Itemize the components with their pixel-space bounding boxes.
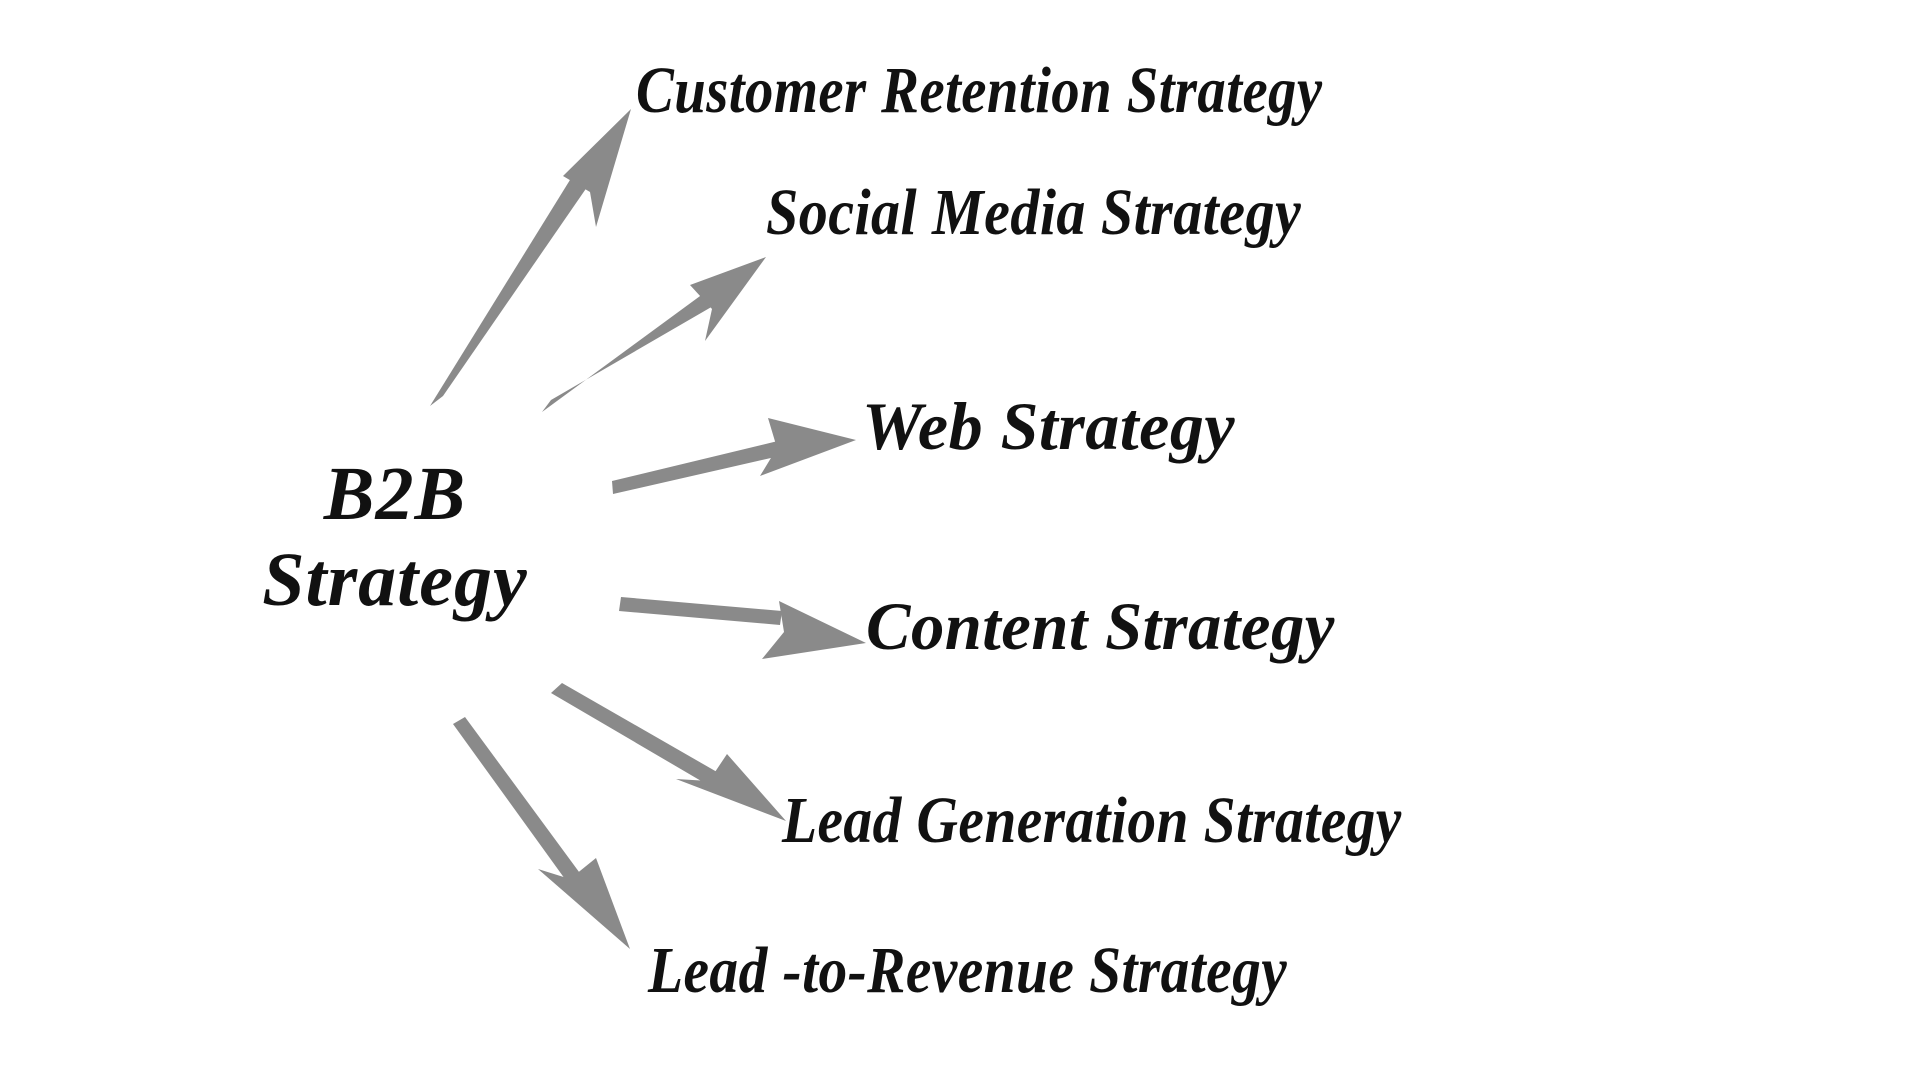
arrow-head [762,601,866,659]
arrow-head [538,858,630,949]
root-node-line-2: Strategy [205,538,585,624]
arrow-to-lead-to-revenue-strategy [453,717,630,949]
arrow-shaft [453,717,582,886]
arrow-shaft [430,167,594,406]
arrow-head [563,109,631,227]
root-node-line-1: B2B [205,452,585,538]
root-node-b2b-strategy[interactable]: B2B Strategy [205,452,585,624]
arrow-to-social-media-strategy [542,257,766,412]
branch-label-lead-to-revenue-strategy[interactable]: Lead -to-Revenue Strategy [648,938,1287,1004]
arrow-to-content-strategy [619,597,866,659]
branch-label-content-strategy[interactable]: Content Strategy [866,592,1335,660]
arrow-shaft [542,288,720,412]
branch-label-web-strategy[interactable]: Web Strategy [862,392,1235,460]
arrow-shaft [551,683,717,785]
diagram-canvas: B2B Strategy Customer Retention Strategy… [0,0,1920,1080]
arrow-to-web-strategy [612,418,856,494]
branch-label-customer-retention-strategy[interactable]: Customer Retention Strategy [636,58,1322,124]
arrow-shaft [619,597,782,625]
branch-label-lead-generation-strategy[interactable]: Lead Generation Strategy [782,788,1402,854]
arrow-to-lead-generation-strategy [551,683,786,821]
arrow-shaft [612,440,784,494]
arrow-to-customer-retention-strategy [430,109,631,406]
branch-label-social-media-strategy[interactable]: Social Media Strategy [766,180,1301,246]
